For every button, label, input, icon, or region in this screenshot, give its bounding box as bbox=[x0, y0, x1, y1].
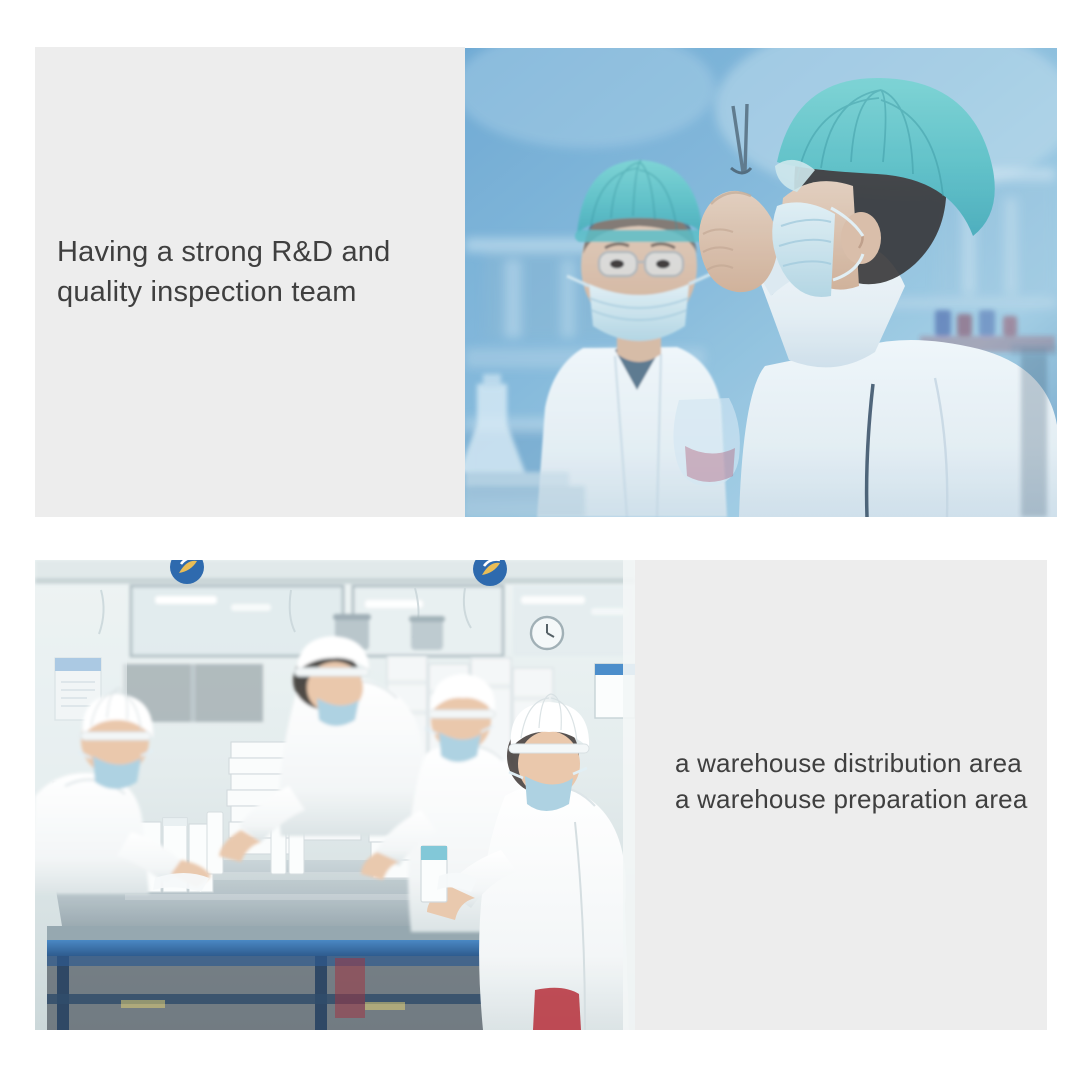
caption-warehouse: a warehouse distribution area a warehous… bbox=[675, 745, 1080, 817]
caption-rnd-quality: Having a strong R&D and quality inspecti… bbox=[57, 232, 457, 312]
warehouse-packing-photo bbox=[35, 560, 635, 1030]
lab-inspection-photo bbox=[465, 48, 1057, 517]
warehouse-scene bbox=[35, 560, 635, 1030]
warehouse-scene-illustration bbox=[35, 560, 635, 1030]
page-root: Having a strong R&D and quality inspecti… bbox=[0, 0, 1080, 1080]
caption-panel-bottom: a warehouse distribution area a warehous… bbox=[635, 560, 1047, 1030]
lab-scene-illustration bbox=[465, 48, 1057, 517]
section-warehouse: a warehouse distribution area a warehous… bbox=[35, 560, 1047, 1030]
section-rnd-quality: Having a strong R&D and quality inspecti… bbox=[35, 47, 1057, 517]
lab-scene bbox=[465, 48, 1057, 517]
caption-panel-top: Having a strong R&D and quality inspecti… bbox=[35, 47, 465, 517]
